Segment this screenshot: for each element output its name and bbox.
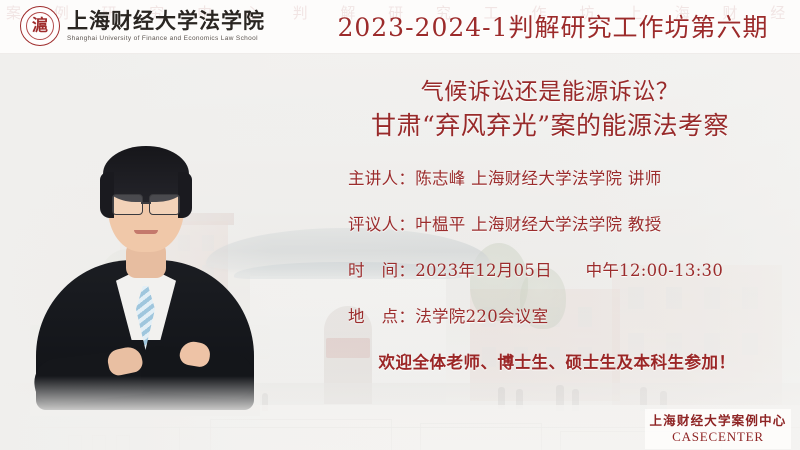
school-name-en: Shanghai University of Finance and Econo… [67,35,265,42]
poster-content: 气候诉讼还是能源诉讼？ 甘肃“弃风弃光”案的能源法考察 主讲人：陈志峰 上海财经… [300,60,800,400]
banner-title: 2023-2024-1判解研究工作坊第六期 [318,8,788,44]
event-title-line2: 甘肃“弃风弃光”案的能源法考察 [300,110,800,142]
event-details: 主讲人：陈志峰 上海财经大学法学院 讲师 评议人：叶榅平 上海财经大学法学院 教… [300,165,800,327]
school-logo: 滬 上海财经大学法学院 Shanghai University of Finan… [20,6,265,46]
seal-glyph: 滬 [32,18,48,34]
casecenter-name-cn: 上海财经大学案例中心 [649,413,786,428]
place-line: 地 点：法学院220会议室 [348,303,800,327]
speaker-portrait [30,110,260,405]
portrait-glasses [112,194,180,213]
school-name-cn: 上海财经大学法学院 [67,10,265,32]
commentator-line: 评议人：叶榅平 上海财经大学法学院 教授 [348,211,800,235]
welcome-line: 欢迎全体老师、博士生、硕士生及本科生参加！ [300,349,800,373]
speaker-line: 主讲人：陈志峰 上海财经大学法学院 讲师 [348,165,800,189]
glasses-lens-right [149,194,180,215]
casecenter-logo: 上海财经大学案例中心 CASECENTER [645,409,791,449]
portrait-bottom-fade [30,376,260,416]
event-title-line1: 气候诉讼还是能源诉讼？ [300,78,800,107]
portrait-hair-side [178,172,192,218]
glasses-lens-left [112,194,143,215]
school-name-block: 上海财经大学法学院 Shanghai University of Finance… [67,10,265,41]
event-poster: 案 例 研 究 中 心 判 解 研 究 工 作 坊 上 海 财 经 大 学 法 … [0,0,800,450]
casecenter-name-en: CASECENTER [672,429,764,445]
time-line: 时 间：2023年12月05日 中午12:00-13:30 [348,257,800,281]
university-seal-icon: 滬 [20,6,60,46]
portrait-mouth [134,230,158,234]
glasses-bridge [141,202,151,204]
poster-header: 案 例 研 究 中 心 判 解 研 究 工 作 坊 上 海 财 经 大 学 法 … [0,0,800,54]
